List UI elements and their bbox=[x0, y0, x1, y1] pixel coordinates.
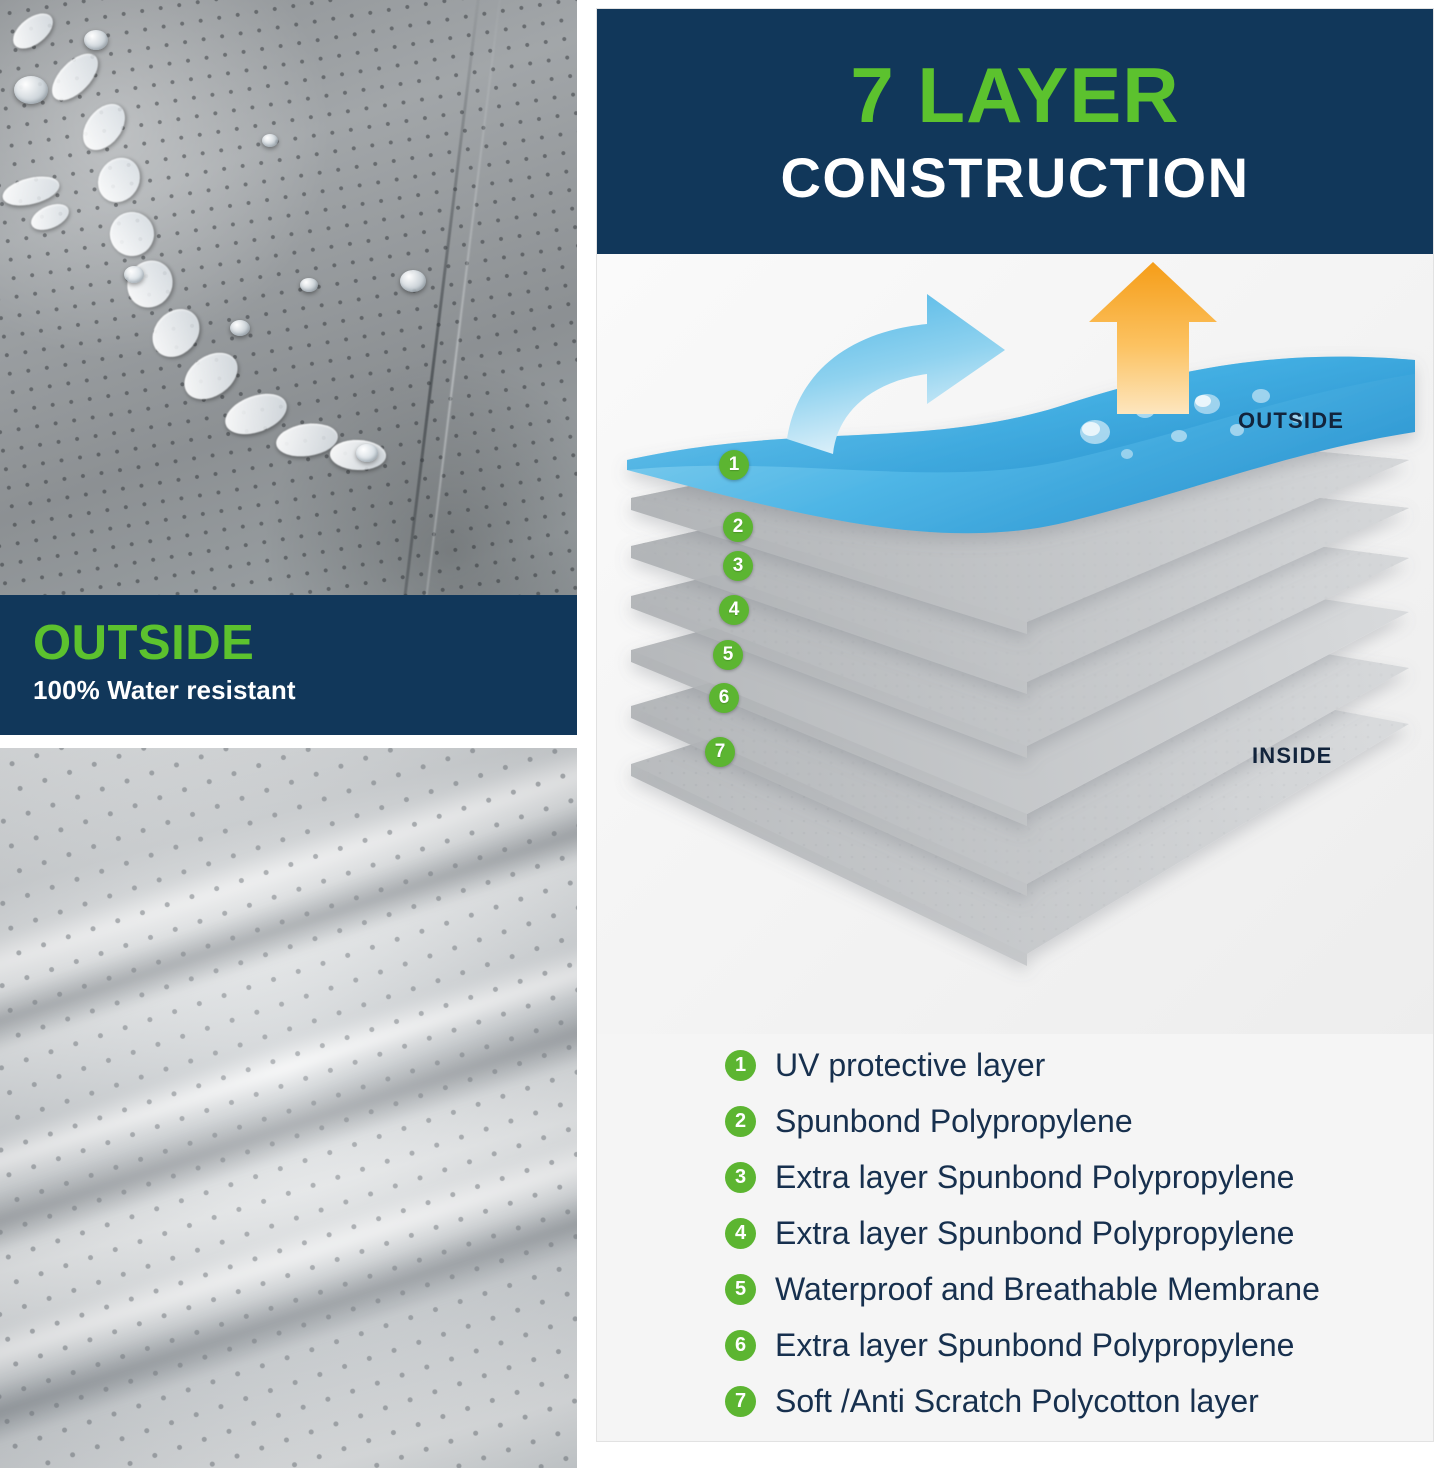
construction-panel: 7 LAYER CONSTRUCTION bbox=[596, 8, 1434, 1442]
water-droplet bbox=[400, 270, 426, 292]
panel-title-construction: CONSTRUCTION bbox=[780, 147, 1249, 209]
outside-caption-title: OUTSIDE bbox=[33, 617, 577, 669]
legend-badge-5: 5 bbox=[725, 1274, 756, 1305]
water-droplet bbox=[84, 30, 108, 50]
left-photo-column: OUTSIDE 100% Water resistant INSIDE Soft… bbox=[0, 0, 577, 1468]
water-droplet bbox=[356, 444, 378, 462]
layer-legend-list: 1 UV protective layer 2 Spunbond Polypro… bbox=[597, 1037, 1433, 1429]
diagram-inside-label: INSIDE bbox=[1252, 743, 1333, 769]
legend-label-7: Soft /Anti Scratch Polycotton layer bbox=[775, 1383, 1259, 1419]
legend-row: 3 Extra layer Spunbond Polypropylene bbox=[725, 1149, 1433, 1205]
water-droplet bbox=[300, 278, 318, 292]
stack-badge-3: 3 bbox=[723, 551, 753, 581]
legend-badge-4: 4 bbox=[725, 1218, 756, 1249]
stack-badge-1: 1 bbox=[719, 450, 749, 480]
inside-lining-photo: INSIDE Soft lining against scratch bbox=[0, 748, 577, 1468]
infographic-root: OUTSIDE 100% Water resistant INSIDE Soft… bbox=[0, 0, 1445, 1468]
diagram-outside-label: OUTSIDE bbox=[1238, 408, 1344, 434]
legend-row: 4 Extra layer Spunbond Polypropylene bbox=[725, 1205, 1433, 1261]
water-droplet bbox=[124, 266, 144, 283]
stack-badge-5: 5 bbox=[713, 640, 743, 670]
legend-label-5: Waterproof and Breathable Membrane bbox=[775, 1271, 1320, 1307]
photo-vignette bbox=[0, 748, 577, 1468]
legend-badge-2: 2 bbox=[725, 1106, 756, 1137]
stack-badge-6: 6 bbox=[709, 683, 739, 713]
legend-row: 6 Extra layer Spunbond Polypropylene bbox=[725, 1317, 1433, 1373]
legend-label-2: Spunbond Polypropylene bbox=[775, 1103, 1133, 1139]
outside-caption-subtitle: 100% Water resistant bbox=[33, 673, 577, 707]
legend-row: 2 Spunbond Polypropylene bbox=[725, 1093, 1433, 1149]
panel-header: 7 LAYER CONSTRUCTION bbox=[597, 9, 1433, 254]
outside-caption-bar: OUTSIDE 100% Water resistant bbox=[0, 595, 577, 735]
panel-title-layers: 7 LAYER bbox=[850, 55, 1179, 135]
legend-label-3: Extra layer Spunbond Polypropylene bbox=[775, 1159, 1294, 1195]
legend-row: 5 Waterproof and Breathable Membrane bbox=[725, 1261, 1433, 1317]
legend-badge-6: 6 bbox=[725, 1330, 756, 1361]
layer-stack-diagram: OUTSIDE INSIDE 1 2 3 4 5 6 7 bbox=[597, 254, 1433, 1034]
stack-badge-7: 7 bbox=[705, 737, 735, 767]
stack-badge-2: 2 bbox=[723, 512, 753, 542]
water-droplet bbox=[14, 76, 48, 104]
water-droplet bbox=[262, 134, 278, 147]
stack-badge-4: 4 bbox=[719, 595, 749, 625]
legend-badge-7: 7 bbox=[725, 1386, 756, 1417]
legend-badge-1: 1 bbox=[725, 1050, 756, 1081]
legend-label-1: UV protective layer bbox=[775, 1047, 1045, 1083]
water-droplet bbox=[230, 320, 250, 336]
legend-row: 7 Soft /Anti Scratch Polycotton layer bbox=[725, 1373, 1433, 1429]
legend-badge-3: 3 bbox=[725, 1162, 756, 1193]
legend-row: 1 UV protective layer bbox=[725, 1037, 1433, 1093]
outside-fabric-photo: OUTSIDE 100% Water resistant bbox=[0, 0, 577, 735]
legend-label-4: Extra layer Spunbond Polypropylene bbox=[775, 1215, 1294, 1251]
legend-label-6: Extra layer Spunbond Polypropylene bbox=[775, 1327, 1294, 1363]
